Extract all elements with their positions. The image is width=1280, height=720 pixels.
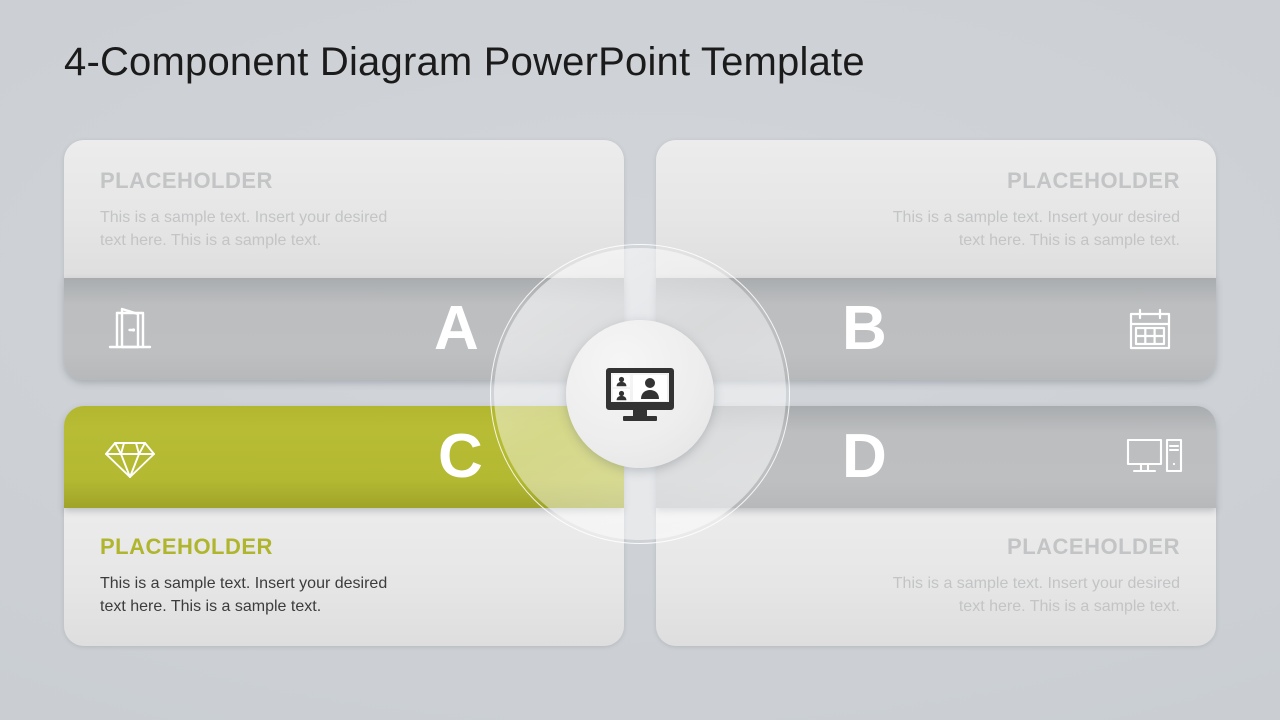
component-a-letter: A — [434, 298, 479, 360]
component-a-body-text: This is a sample text. Insert your desir… — [100, 209, 387, 249]
component-d-letter: D — [842, 426, 887, 488]
component-a-heading: PLACEHOLDER — [100, 168, 273, 194]
component-d-body-text: This is a sample text. Insert your desir… — [893, 575, 1180, 615]
slide-canvas: 4-Component Diagram PowerPoint Template … — [0, 0, 1280, 720]
component-b-body: This is a sample text. Insert your desir… — [880, 206, 1180, 252]
calendar-icon — [1118, 297, 1182, 361]
center-hub[interactable] — [566, 320, 714, 468]
diamond-icon — [98, 425, 162, 489]
component-b-text-pane: PLACEHOLDER This is a sample text. Inser… — [656, 140, 1216, 280]
desktop-computer-icon — [1122, 425, 1186, 489]
component-c-text-pane: PLACEHOLDER This is a sample text. Inser… — [64, 506, 624, 646]
component-d-heading: PLACEHOLDER — [1007, 534, 1180, 560]
component-a-text-pane: PLACEHOLDER This is a sample text. Inser… — [64, 140, 624, 280]
component-a-body: This is a sample text. Insert your desir… — [100, 206, 400, 252]
video-conference-icon — [603, 362, 677, 426]
component-c-heading: PLACEHOLDER — [100, 534, 273, 560]
door-icon — [98, 297, 162, 361]
component-b-letter: B — [842, 298, 887, 360]
component-b-heading: PLACEHOLDER — [1007, 168, 1180, 194]
page-title: 4-Component Diagram PowerPoint Template — [64, 40, 865, 85]
component-c-body-text: This is a sample text. Insert your desir… — [100, 575, 387, 615]
component-b-body-text: This is a sample text. Insert your desir… — [893, 209, 1180, 249]
component-c-body: This is a sample text. Insert your desir… — [100, 572, 400, 618]
component-d-text-pane: PLACEHOLDER This is a sample text. Inser… — [656, 506, 1216, 646]
component-c-letter: C — [438, 426, 483, 488]
component-d-body: This is a sample text. Insert your desir… — [880, 572, 1180, 618]
